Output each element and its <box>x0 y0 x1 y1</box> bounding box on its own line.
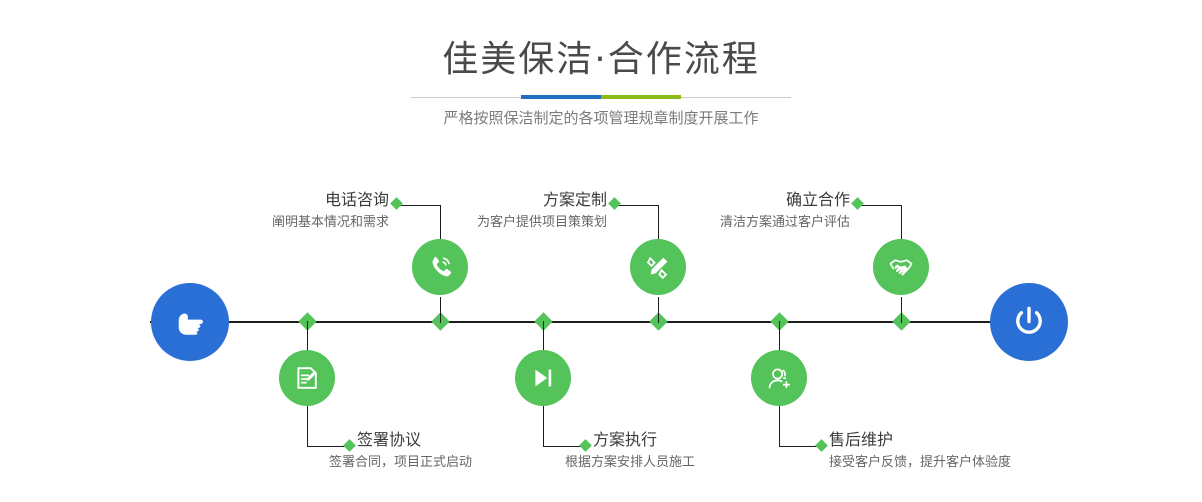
step-icon-badge-2[interactable] <box>279 350 335 406</box>
label-marker-2 <box>343 439 356 452</box>
step-icon-badge-1[interactable] <box>412 239 468 295</box>
step-title-1: 电话咨询 <box>219 189 389 211</box>
step-desc-3: 为客户提供项目策策划 <box>397 213 607 233</box>
step-desc-6: 接受客户反馈，提升客户体验度 <box>829 453 1011 473</box>
step-icon-badge-5[interactable] <box>873 239 929 295</box>
label-marker-3 <box>608 197 621 210</box>
timeline-end-node <box>990 283 1068 361</box>
step-title-4: 方案执行 <box>593 429 657 451</box>
connector-elbow-h-6 <box>779 446 821 447</box>
step-desc-1: 阐明基本情况和需求 <box>189 213 389 233</box>
connector-elbow-h-2 <box>307 446 349 447</box>
connector-elbow-h-5 <box>859 205 901 206</box>
connector-elbow-h-1 <box>398 205 440 206</box>
pencil-ruler-icon <box>644 253 672 281</box>
step-title-3: 方案定制 <box>437 189 607 211</box>
connector-stem-4 <box>543 321 544 351</box>
step-title-2: 签署协议 <box>357 429 421 451</box>
label-marker-6 <box>815 439 828 452</box>
step-desc-2: 签署合同，项目正式启动 <box>329 453 472 473</box>
phone-call-icon <box>425 252 455 282</box>
timeline-axis <box>150 321 1052 323</box>
title-divider <box>411 95 791 99</box>
connector-elbow-h-3 <box>616 205 658 206</box>
divider-segment-green <box>601 95 681 99</box>
step-desc-4: 根据方案安排人员施工 <box>565 453 695 473</box>
connector-elbow-h-4 <box>543 446 585 447</box>
page-subtitle: 严格按照保洁制定的各项管理规章制度开展工作 <box>0 106 1202 130</box>
connector-elbow-v-4 <box>543 405 544 446</box>
thumbs-up-pointing-hand-icon <box>170 302 210 342</box>
label-marker-5 <box>851 197 864 210</box>
step-icon-badge-6[interactable] <box>751 350 807 406</box>
connector-stem-2 <box>307 321 308 351</box>
connector-elbow-v-6 <box>779 405 780 446</box>
play-execute-icon <box>529 364 557 392</box>
handshake-icon <box>886 252 916 282</box>
connector-stem-5 <box>901 297 902 323</box>
customer-service-add-icon <box>765 364 793 392</box>
timeline-start-node <box>151 283 229 361</box>
power-icon <box>1008 301 1050 343</box>
flow-diagram-canvas: 佳美保洁·合作流程 严格按照保洁制定的各项管理规章制度开展工作 <box>0 0 1202 502</box>
document-sign-icon <box>293 364 321 392</box>
connector-stem-1 <box>440 297 441 323</box>
connector-stem-3 <box>658 297 659 323</box>
label-marker-4 <box>579 439 592 452</box>
connector-elbow-v-2 <box>307 405 308 446</box>
page-title: 佳美保洁·合作流程 <box>0 38 1202 82</box>
step-desc-5: 清洁方案通过客户评估 <box>640 213 850 233</box>
step-icon-badge-4[interactable] <box>515 350 571 406</box>
step-title-5: 确立合作 <box>680 189 850 211</box>
step-icon-badge-3[interactable] <box>630 239 686 295</box>
connector-stem-6 <box>779 321 780 351</box>
divider-segment-blue <box>521 95 601 99</box>
label-marker-1 <box>390 197 403 210</box>
step-title-6: 售后维护 <box>829 429 893 451</box>
